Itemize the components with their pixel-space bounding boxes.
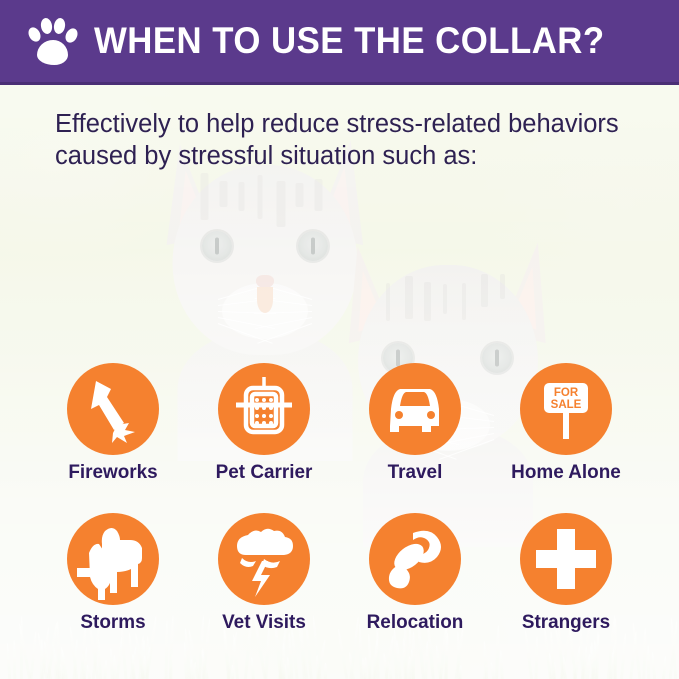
use-case-strangers[interactable]: Strangers (491, 513, 641, 634)
page-title: WHEN TO USE THE COLLAR? (94, 20, 605, 62)
use-case-pet-carrier[interactable]: Pet Carrier (189, 363, 339, 484)
firework-rocket-icon (67, 363, 159, 455)
use-case-home-alone[interactable]: FOR SALE Home Alone (491, 363, 641, 484)
use-case-label: Vet Visits (191, 611, 337, 634)
pacifier-icon (369, 513, 461, 605)
infographic-page: WHEN TO USE THE COLLAR? Effectively to h… (0, 0, 679, 679)
use-case-label: Travel (342, 461, 488, 484)
car-front-icon (369, 363, 461, 455)
paw-print-icon (28, 15, 80, 67)
use-case-row-1: Fireworks (0, 355, 679, 500)
subtitle-line-1: Effectively to help reduce stress-relate… (55, 108, 655, 140)
subtitle-line-2: caused by stressful situation such as: (55, 140, 655, 172)
for-sale-sign-icon: FOR SALE (520, 363, 612, 455)
use-case-fireworks[interactable]: Fireworks (38, 363, 188, 484)
use-case-label: Pet Carrier (191, 461, 337, 484)
medical-cross-icon (520, 513, 612, 605)
use-case-row-2: Storms Vet Visits (0, 505, 679, 650)
sign-line-2: SALE (551, 399, 582, 411)
dog-and-cat-icon (67, 513, 159, 605)
subtitle-text: Effectively to help reduce stress-relate… (55, 108, 655, 172)
use-case-label: Relocation (342, 611, 488, 634)
use-case-label: Storms (40, 611, 186, 634)
storm-cloud-lightning-icon (218, 513, 310, 605)
use-case-label: Strangers (493, 611, 639, 634)
use-case-vet-visits[interactable]: Vet Visits (189, 513, 339, 634)
pet-carrier-icon (218, 363, 310, 455)
use-case-storms[interactable]: Storms (38, 513, 188, 634)
use-case-travel[interactable]: Travel (340, 363, 490, 484)
use-case-grid: Fireworks (0, 355, 679, 650)
sign-line-1: FOR (554, 387, 579, 399)
header-banner: WHEN TO USE THE COLLAR? (0, 0, 679, 85)
use-case-label: Fireworks (40, 461, 186, 484)
use-case-label: Home Alone (493, 461, 639, 484)
use-case-relocation[interactable]: Relocation (340, 513, 490, 634)
